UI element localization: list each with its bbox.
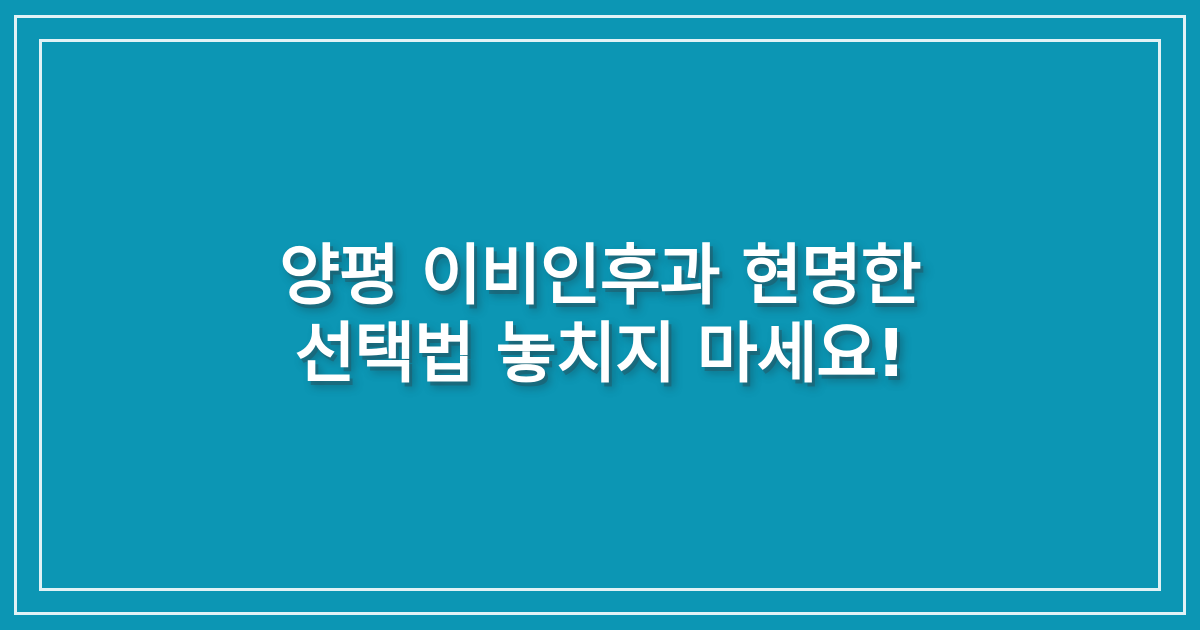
banner-headline: 양평 이비인후과 현명한 선택법 놓치지 마세요!: [279, 237, 920, 393]
headline-line-2: 선택법 놓치지 마세요!: [279, 315, 920, 393]
headline-container: 양평 이비인후과 현명한 선택법 놓치지 마세요!: [0, 0, 1200, 630]
promo-banner: 양평 이비인후과 현명한 선택법 놓치지 마세요!: [0, 0, 1200, 630]
headline-line-1: 양평 이비인후과 현명한: [279, 237, 920, 315]
